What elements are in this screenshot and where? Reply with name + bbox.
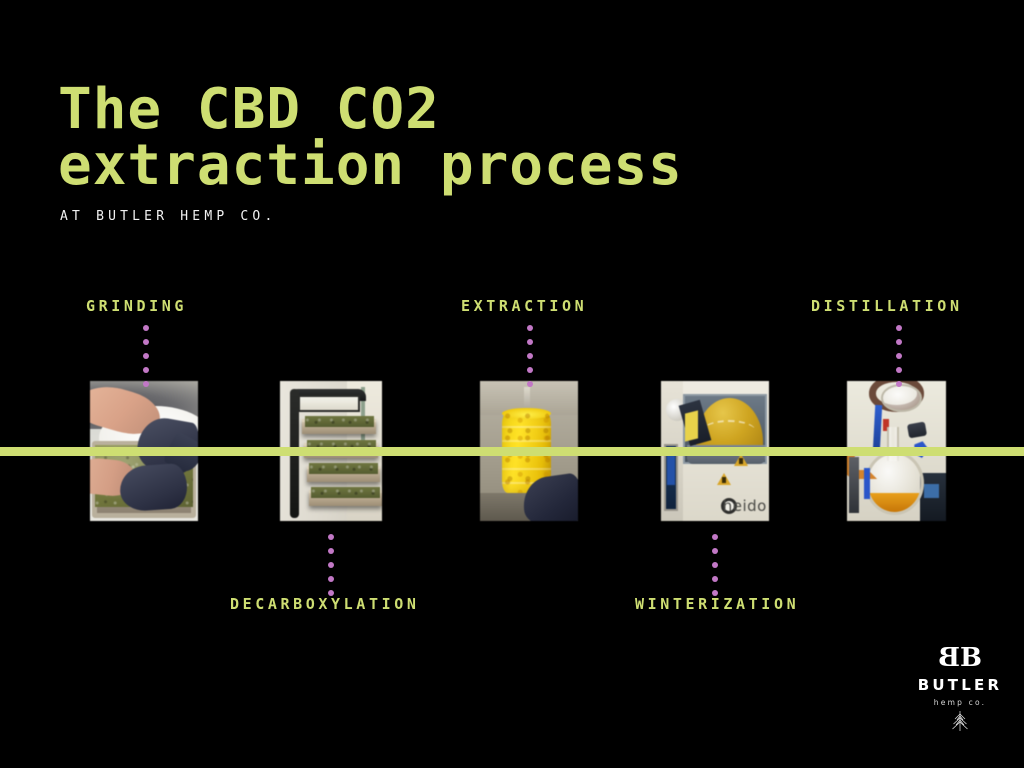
dot xyxy=(527,353,533,359)
dot xyxy=(328,576,334,582)
monogram-right-letter: B xyxy=(960,643,980,673)
dot xyxy=(896,325,902,331)
page-title: The CBD CO2 extraction process xyxy=(58,82,838,194)
equipment-brand-text: heido xyxy=(723,497,767,515)
dot xyxy=(712,576,718,582)
step-label-extraction: EXTRACTION xyxy=(461,297,587,315)
dot xyxy=(328,534,334,540)
connector-dots-decarboxylation xyxy=(328,534,334,596)
dot xyxy=(143,367,149,373)
dot xyxy=(712,548,718,554)
dot xyxy=(143,339,149,345)
slide-canvas: The CBD CO2 extraction process AT BUTLER… xyxy=(0,0,1024,768)
dot xyxy=(328,548,334,554)
connector-dots-extraction xyxy=(527,325,533,387)
step-label-distillation: DISTILLATION xyxy=(811,297,963,315)
dot xyxy=(896,339,902,345)
dot xyxy=(896,367,902,373)
step-label-winterization: WINTERIZATION xyxy=(635,595,799,613)
dot xyxy=(143,381,149,387)
dot xyxy=(712,562,718,568)
dot xyxy=(143,325,149,331)
dot xyxy=(328,562,334,568)
brand-logo: BB BUTLER hemp co. xyxy=(905,645,1015,732)
logo-wordmark: BUTLER xyxy=(905,676,1015,694)
dot xyxy=(527,367,533,373)
step-label-decarboxylation: DECARBOXYLATION xyxy=(230,595,419,613)
connector-dots-grinding xyxy=(143,325,149,387)
connector-dots-distillation xyxy=(896,325,902,387)
page-subtitle: AT BUTLER HEMP CO. xyxy=(60,209,276,224)
dot xyxy=(527,325,533,331)
pine-tree-icon xyxy=(905,710,1015,732)
dot xyxy=(527,339,533,345)
monogram-icon: BB xyxy=(905,645,1015,671)
dot xyxy=(896,353,902,359)
logo-tagline: hemp co. xyxy=(905,698,1015,707)
dot xyxy=(896,381,902,387)
dot xyxy=(143,353,149,359)
connector-dots-winterization xyxy=(712,534,718,596)
dot xyxy=(527,381,533,387)
dot xyxy=(712,534,718,540)
monogram-left-letter: B xyxy=(940,645,960,671)
step-label-grinding: GRINDING xyxy=(86,297,187,315)
timeline-axis xyxy=(0,447,1024,456)
